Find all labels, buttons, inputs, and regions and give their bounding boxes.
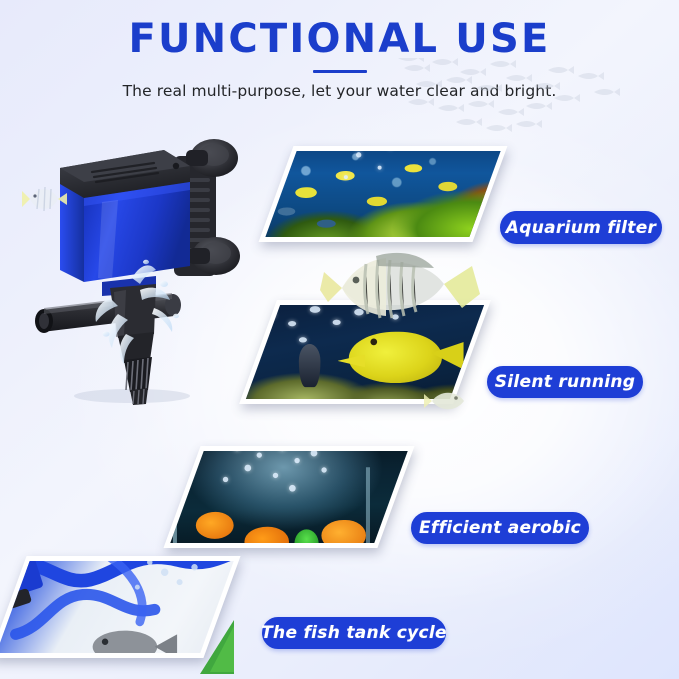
feature-label-fish-tank-cycle[interactable]: The fish tank cycle [262,617,446,649]
photo-water-flow [0,556,241,658]
submersible-aquarium-pump [14,138,272,408]
feature-label-aquarium-filter[interactable]: Aquarium filter [500,211,662,244]
page-subtitle: The real multi-purpose, let your water c… [0,82,679,100]
feature-label-text: Aquarium filter [504,218,658,238]
title-divider [313,70,367,73]
feature-label-text: The fish tank cycle [259,623,449,643]
product-feature-banner: FUNCTIONAL USE The real multi-purpose, l… [0,0,679,679]
feature-label-text: Efficient aerobic [417,518,583,538]
header: FUNCTIONAL USE The real multi-purpose, l… [0,0,679,100]
page-title: FUNCTIONAL USE [0,0,679,62]
photo-yellow-tang [239,300,491,404]
photo-reef-aquarium [259,146,508,242]
feature-label-silent-running[interactable]: Silent running [487,366,643,398]
feature-label-efficient-aerobic[interactable]: Efficient aerobic [411,512,589,544]
feature-label-text: Silent running [493,372,638,392]
photo-bubble-curtain [163,446,414,548]
